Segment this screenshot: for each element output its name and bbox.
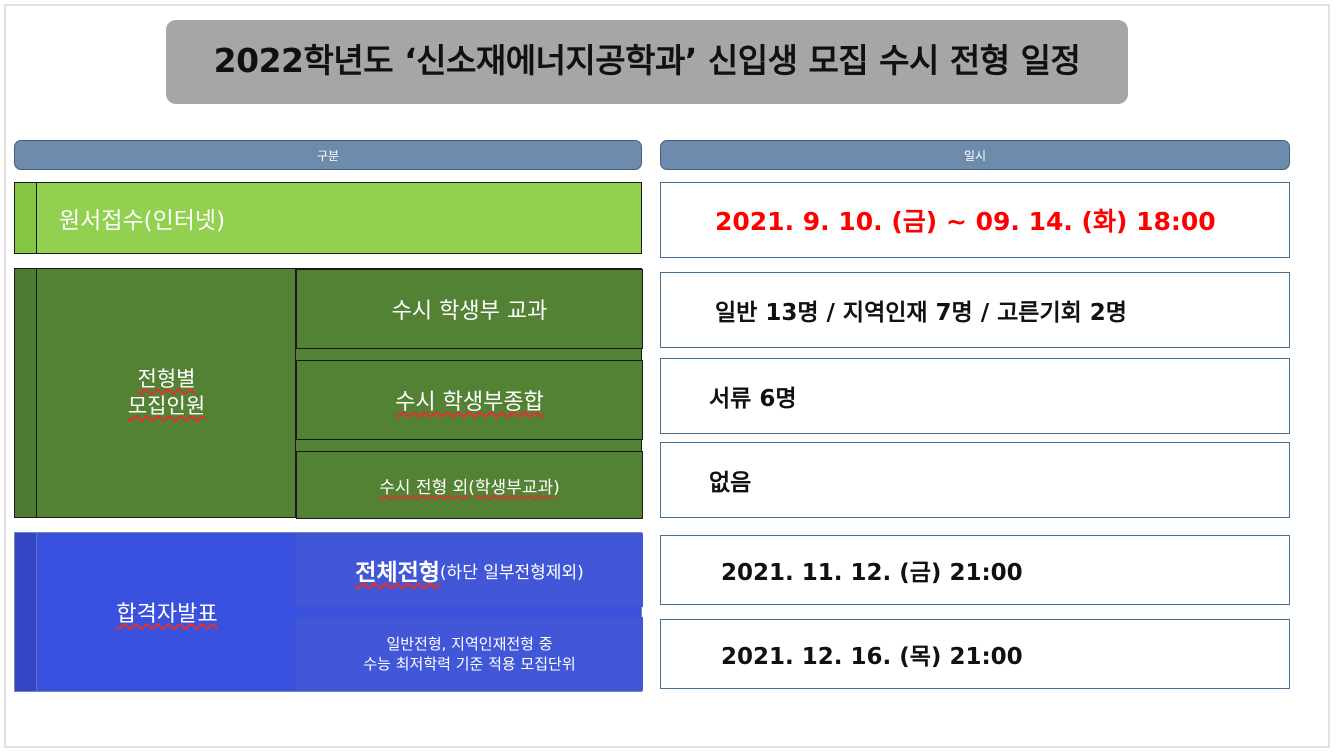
column-header-category: 구분 xyxy=(14,140,642,170)
column-header-category-label: 구분 xyxy=(317,147,339,164)
subrow-susi-subject-value-cell: 일반 13명 / 지역인재 7명 / 고른기회 2명 xyxy=(660,272,1290,348)
row-quota-label-line1: 전형별 xyxy=(138,366,196,393)
title-banner: 2022학년도 ‘신소재에너지공학과’ 신입생 모집 수시 전형 일정 xyxy=(166,20,1128,104)
row-application-value: 2021. 9. 10. (금) ~ 09. 14. (화) 18:00 xyxy=(715,202,1216,238)
subrow-all-types-label-rest: (하단 일부전형제외) xyxy=(440,558,584,583)
subrow-min-score-types: 일반전형, 지역인재전형 중 수능 최저학력 기준 적용 모집단위 xyxy=(296,617,643,691)
row-quota-label-line2: 모집인원 xyxy=(128,393,205,420)
row-quota-block: 전형별 모집인원 수시 학생부 교과 수시 학생부종합 수시 전형 외(학생부교… xyxy=(14,268,642,518)
page-title: 2022학년도 ‘신소재에너지공학과’ 신입생 모집 수시 전형 일정 xyxy=(176,34,1118,82)
subrow-susi-other: 수시 전형 외(학생부교과) xyxy=(296,451,643,519)
subrow-susi-subject-value: 일반 13명 / 지역인재 7명 / 고른기회 2명 xyxy=(715,293,1127,327)
subrow-susi-subject-label: 수시 학생부 교과 xyxy=(392,293,548,325)
subrow-all-types-label-strong: 전체전형 xyxy=(355,553,440,587)
row-announcement-subrows: 전체전형(하단 일부전형제외) 일반전형, 지역인재전형 중 수능 최저학력 기… xyxy=(296,533,643,691)
subrow-min-score-types-label: 일반전형, 지역인재전형 중 수능 최저학력 기준 적용 모집단위 xyxy=(363,634,575,675)
subrow-all-types-value: 2021. 11. 12. (금) 21:00 xyxy=(721,553,1023,587)
subrow-susi-comprehensive-label: 수시 학생부종합 xyxy=(395,384,544,416)
row-announcement-accent-strip xyxy=(15,533,37,691)
row-application-block: 원서접수(인터넷) xyxy=(14,182,642,254)
row-quota-accent-strip xyxy=(15,269,37,517)
subrow-min-score-types-line1: 일반전형, 지역인재전형 중 xyxy=(386,635,552,653)
subrow-susi-other-value-cell: 없음 xyxy=(660,442,1290,518)
row-application-value-cell: 2021. 9. 10. (금) ~ 09. 14. (화) 18:00 xyxy=(660,182,1290,258)
row-quota-subrows: 수시 학생부 교과 수시 학생부종합 수시 전형 외(학생부교과) xyxy=(296,269,643,517)
subrow-susi-other-value: 없음 xyxy=(709,463,751,497)
subrow-susi-comprehensive-value-cell: 서류 6명 xyxy=(660,358,1290,434)
column-header-datetime-label: 일시 xyxy=(964,147,986,164)
column-header-datetime: 일시 xyxy=(660,140,1290,170)
subrow-min-score-types-value: 2021. 12. 16. (목) 21:00 xyxy=(721,637,1023,671)
subrow-susi-comprehensive: 수시 학생부종합 xyxy=(296,360,643,440)
subrow-susi-comprehensive-value: 서류 6명 xyxy=(709,379,797,413)
subrow-susi-other-label: 수시 전형 외(학생부교과) xyxy=(379,473,559,498)
row-application-accent-strip xyxy=(15,183,37,253)
row-quota-label: 전형별 모집인원 xyxy=(38,269,296,517)
row-announcement-label: 합격자발표 xyxy=(38,533,296,691)
subrow-min-score-types-value-cell: 2021. 12. 16. (목) 21:00 xyxy=(660,619,1290,689)
subrow-min-score-types-line2: 수능 최저학력 기준 적용 모집단위 xyxy=(363,655,575,673)
row-application-label: 원서접수(인터넷) xyxy=(51,183,225,253)
slide-canvas: 2022학년도 ‘신소재에너지공학과’ 신입생 모집 수시 전형 일정 구분 일… xyxy=(0,0,1336,754)
subrow-all-types: 전체전형(하단 일부전형제외) xyxy=(296,533,643,607)
row-announcement-block: 합격자발표 전체전형(하단 일부전형제외) 일반전형, 지역인재전형 중 수능 … xyxy=(14,532,642,692)
subrow-all-types-value-cell: 2021. 11. 12. (금) 21:00 xyxy=(660,535,1290,605)
subrow-susi-subject: 수시 학생부 교과 xyxy=(296,269,643,349)
row-announcement-label-text: 합격자발표 xyxy=(116,596,217,628)
